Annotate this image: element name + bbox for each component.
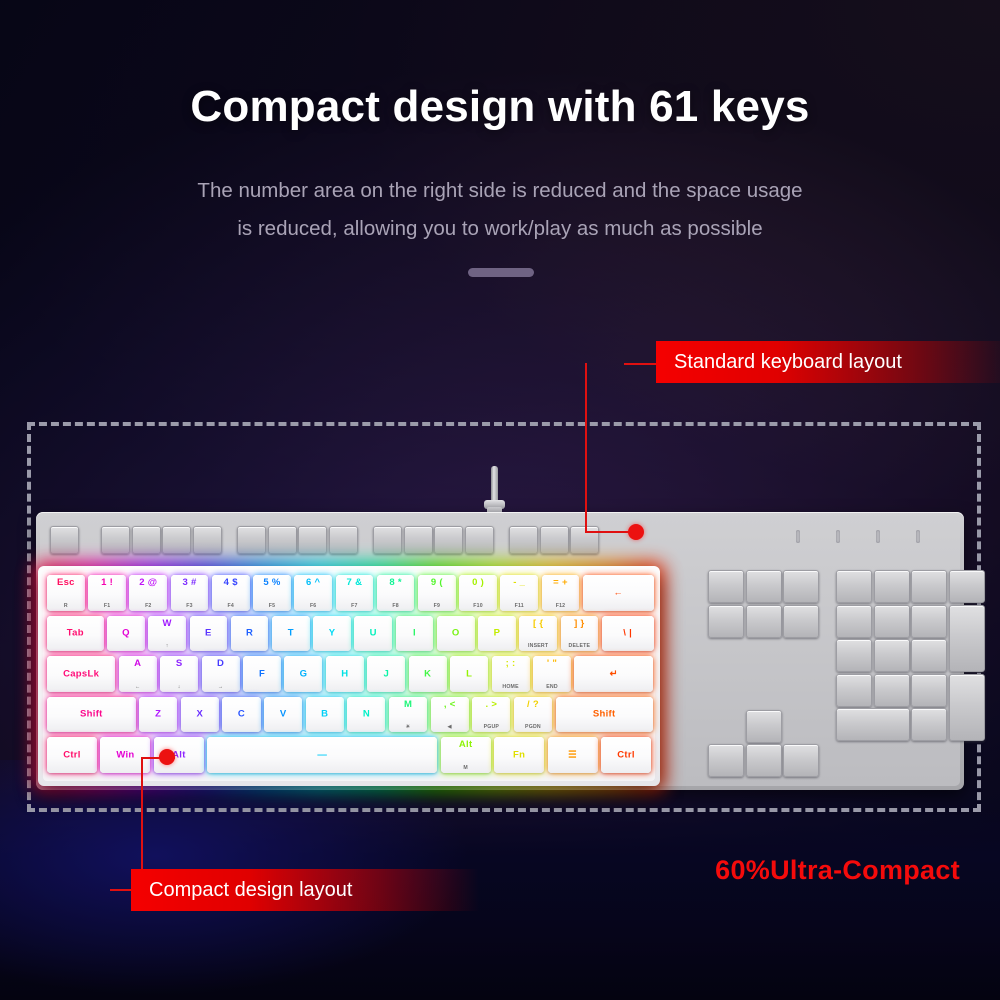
full-key-sysreq [509,526,538,554]
key-legend: N [347,709,385,720]
key-legend: I [396,628,434,639]
indicator-led [836,530,840,543]
key-legend: 3 # [171,577,209,588]
key-sublegend: ↓ [160,684,198,690]
key-legend: ' " [533,658,571,669]
full-key-numpad [911,570,947,603]
key-sublegend: ☀ [389,724,427,730]
key-legend: / ? [514,699,552,710]
full-key-numpad-enter [949,674,985,742]
key-legend: K [409,668,447,679]
key-shift-r3[interactable]: Shift [47,697,136,733]
key-legend: E [190,628,228,639]
key-sublegend: → [202,684,240,690]
full-key-nav [783,605,819,638]
key-b-r3[interactable]: B [306,697,344,733]
key-legend: H [326,668,364,679]
key-alt-r4[interactable]: AltM [441,737,491,773]
full-key-numpad-plus [949,605,985,673]
key--r3[interactable]: / ?PGDN [514,697,552,733]
key-i-r1[interactable]: I [396,616,434,652]
key-legend: J [367,668,405,679]
bottom-callout-dot [159,749,175,765]
key-legend: 2 @ [129,577,167,588]
key-legend: Q [107,628,145,639]
full-key-arrow [746,744,782,777]
key-5-r0[interactable]: 5 %F5 [253,575,291,611]
key-q-r1[interactable]: Q [107,616,145,652]
full-key-esc [50,526,79,554]
key-legend: ☰ [548,749,598,760]
full-key-numpad [874,605,910,638]
indicator-led [796,530,800,543]
full-key-function [268,526,297,554]
page-title: Compact design with 61 keys [0,82,1000,132]
key-sublegend: PGDN [514,724,552,730]
key-2-r0[interactable]: 2 @F2 [129,575,167,611]
full-key-numpad-zero [836,708,910,741]
key-legend: M [389,699,427,710]
full-key-function [298,526,327,554]
key-legend: U [354,628,392,639]
key-legend: Shift [47,709,136,720]
key-fn-r4[interactable]: Fn [494,737,544,773]
full-key-numpad [836,570,872,603]
key-legend: 0 ) [459,577,497,588]
key-legend: 7 & [336,577,374,588]
key-legend: L [450,668,488,679]
key-z-r3[interactable]: Z [139,697,177,733]
key--r3[interactable]: , <◀ [431,697,469,733]
key-legend: - _ [500,577,538,588]
key-sublegend: F1 [88,603,126,609]
key-legend: B [306,709,344,720]
full-key-function [101,526,130,554]
callout-compact-layout: Compact design layout [131,869,479,911]
key-ctrl-r4[interactable]: Ctrl [47,737,97,773]
key-legend: \ | [602,628,654,639]
key-legend: R [231,628,269,639]
key-legend: Fn [494,749,544,760]
key-legend: 8 * [377,577,415,588]
key-m-r3[interactable]: M☀ [389,697,427,733]
key-sublegend: F11 [500,603,538,609]
key-h-r2[interactable]: H [326,656,364,692]
key--r1[interactable]: [ {INSERT [519,616,557,652]
full-key-function [237,526,266,554]
key--r0[interactable]: - _F11 [500,575,538,611]
key-esc-r0[interactable]: EscR [47,575,85,611]
key-capslk-r2[interactable]: CapsLk [47,656,115,692]
callout-compact-layout-label: Compact design layout [149,879,352,902]
callout-standard-layout: Standard keyboard layout [656,341,1000,383]
key-legend: 5 % [253,577,291,588]
key-legend: ] } [561,618,599,629]
key-sublegend: F2 [129,603,167,609]
indicator-led [916,530,920,543]
full-key-numpad [911,639,947,672]
header-divider-pill [468,268,534,277]
key-sublegend: F4 [212,603,250,609]
key-legend: Y [313,628,351,639]
full-key-function [404,526,433,554]
key-shift-r3[interactable]: Shift [556,697,653,733]
page-subtitle: The number area on the right side is red… [120,172,880,248]
product-banner: Compact design with 61 keys The number a… [0,0,1000,1000]
key-legend: , < [431,699,469,710]
key-legend: = + [542,577,580,588]
key-legend: [ { [519,618,557,629]
full-key-numpad [874,674,910,707]
key-sublegend: ◀ [431,724,469,730]
key-l-r2[interactable]: L [450,656,488,692]
key-legend: 6 ^ [294,577,332,588]
key-sublegend: F6 [294,603,332,609]
full-key-numpad [874,639,910,672]
full-key-function [132,526,161,554]
key--r2[interactable]: ↵ [574,656,653,692]
key-legend: Tab [47,628,104,639]
full-key-function [373,526,402,554]
full-key-arrow-up [746,710,782,743]
top-callout-dot [628,524,644,540]
key-a-r2[interactable]: A← [119,656,157,692]
key-4-r0[interactable]: 4 $F4 [212,575,250,611]
full-key-function [162,526,191,554]
key-legend: C [222,709,260,720]
key-8-r0[interactable]: 8 *F8 [377,575,415,611]
key-sublegend: F8 [377,603,415,609]
key-7-r0[interactable]: 7 &F7 [336,575,374,611]
key-legend: Alt [441,739,491,750]
key-e-r1[interactable]: E [190,616,228,652]
full-key-function [434,526,463,554]
key-legend: O [437,628,475,639]
key-legend: ← [583,587,654,598]
full-key-numpad [874,570,910,603]
key--r0[interactable]: ← [583,575,654,611]
key-legend: CapsLk [47,668,115,679]
key--r2[interactable]: ' "END [533,656,571,692]
key-u-r1[interactable]: U [354,616,392,652]
full-key-nav [746,605,782,638]
key-v-r3[interactable]: V [264,697,302,733]
key-legend: Esc [47,577,85,588]
key-legend: W [148,618,186,629]
key-tab-r1[interactable]: Tab [47,616,104,652]
key-sublegend: DELETE [561,643,599,649]
key-legend: ; : [492,658,530,669]
key-x-r3[interactable]: X [181,697,219,733]
key-c-r3[interactable]: C [222,697,260,733]
key-legend: — [207,749,437,760]
key-d-r2[interactable]: D→ [202,656,240,692]
key-legend: 9 ( [418,577,456,588]
full-key-numpad [911,674,947,707]
key-legend: . > [472,699,510,710]
full-key-numpad [911,605,947,638]
full-key-sysreq [540,526,569,554]
indicator-led [876,530,880,543]
key-k-r2[interactable]: K [409,656,447,692]
key-legend: F [243,668,281,679]
key-sublegend: ← [119,684,157,690]
key--r1[interactable]: \ | [602,616,654,652]
key-sublegend: END [533,684,571,690]
key-o-r1[interactable]: O [437,616,475,652]
key--r3[interactable]: . >PGUP [472,697,510,733]
full-key-numpad-dot [911,708,947,741]
full-key-numpad [836,674,872,707]
key-legend: Ctrl [601,749,651,760]
key-legend: S [160,658,198,669]
key--r0[interactable]: = +F12 [542,575,580,611]
key-3-r0[interactable]: 3 #F3 [171,575,209,611]
key-sublegend: HOME [492,684,530,690]
key-1-r0[interactable]: 1 !F1 [88,575,126,611]
key-legend: 4 $ [212,577,250,588]
key-sublegend: F9 [418,603,456,609]
key-p-r1[interactable]: P [478,616,516,652]
subtitle-line-1: The number area on the right side is red… [120,172,880,210]
key-legend: Ctrl [47,749,97,760]
key--r4[interactable]: — [207,737,437,773]
key-sublegend: F3 [171,603,209,609]
full-key-arrow [708,744,744,777]
key-y-r1[interactable]: Y [313,616,351,652]
key-legend: X [181,709,219,720]
key-j-r2[interactable]: J [367,656,405,692]
key-sublegend: F12 [542,603,580,609]
key-s-r2[interactable]: S↓ [160,656,198,692]
ultra-compact-label: 60%Ultra-Compact [715,855,960,886]
key-0-r0[interactable]: 0 )F10 [459,575,497,611]
key-legend: Z [139,709,177,720]
key-sublegend: F5 [253,603,291,609]
key-w-r1[interactable]: W↑ [148,616,186,652]
key-legend: A [119,658,157,669]
top-callout-lead-vertical [585,363,587,533]
full-key-nav [746,570,782,603]
key-6-r0[interactable]: 6 ^F6 [294,575,332,611]
key-f-r2[interactable]: F [243,656,281,692]
key-sublegend: PGUP [472,724,510,730]
subtitle-line-2: is reduced, allowing you to work/play as… [120,210,880,248]
full-key-numpad [836,605,872,638]
full-key-nav [708,605,744,638]
key-sublegend: M [441,765,491,771]
key-sublegend: INSERT [519,643,557,649]
full-key-nav [783,570,819,603]
key-ctrl-r4[interactable]: Ctrl [601,737,651,773]
full-key-function [193,526,222,554]
full-key-arrow [783,744,819,777]
key-legend: ↵ [574,668,653,679]
callout-standard-layout-label: Standard keyboard layout [674,351,902,374]
key-sublegend: ↑ [148,643,186,649]
key--r2[interactable]: ; :HOME [492,656,530,692]
key-t-r1[interactable]: T [272,616,310,652]
key-r-r1[interactable]: R [231,616,269,652]
full-key-nav [708,570,744,603]
full-key-function [465,526,494,554]
key-9-r0[interactable]: 9 (F9 [418,575,456,611]
key-legend: V [264,709,302,720]
key--r4[interactable]: ☰ [548,737,598,773]
key-legend: P [478,628,516,639]
key-legend: 1 ! [88,577,126,588]
full-key-numpad [836,639,872,672]
key-g-r2[interactable]: G [284,656,322,692]
full-key-function [329,526,358,554]
key-n-r3[interactable]: N [347,697,385,733]
key-sublegend: R [47,603,85,609]
full-key-numlock-op [949,570,985,603]
key--r1[interactable]: ] }DELETE [561,616,599,652]
key-legend: T [272,628,310,639]
key-legend: D [202,658,240,669]
key-legend: G [284,668,322,679]
compact-keyboard: EscR1 !F12 @F23 #F34 $F45 %F56 ^F67 &F78… [38,566,660,786]
key-sublegend: F10 [459,603,497,609]
key-legend: Shift [556,709,653,720]
key-sublegend: F7 [336,603,374,609]
top-callout-lead-stub [624,363,658,365]
